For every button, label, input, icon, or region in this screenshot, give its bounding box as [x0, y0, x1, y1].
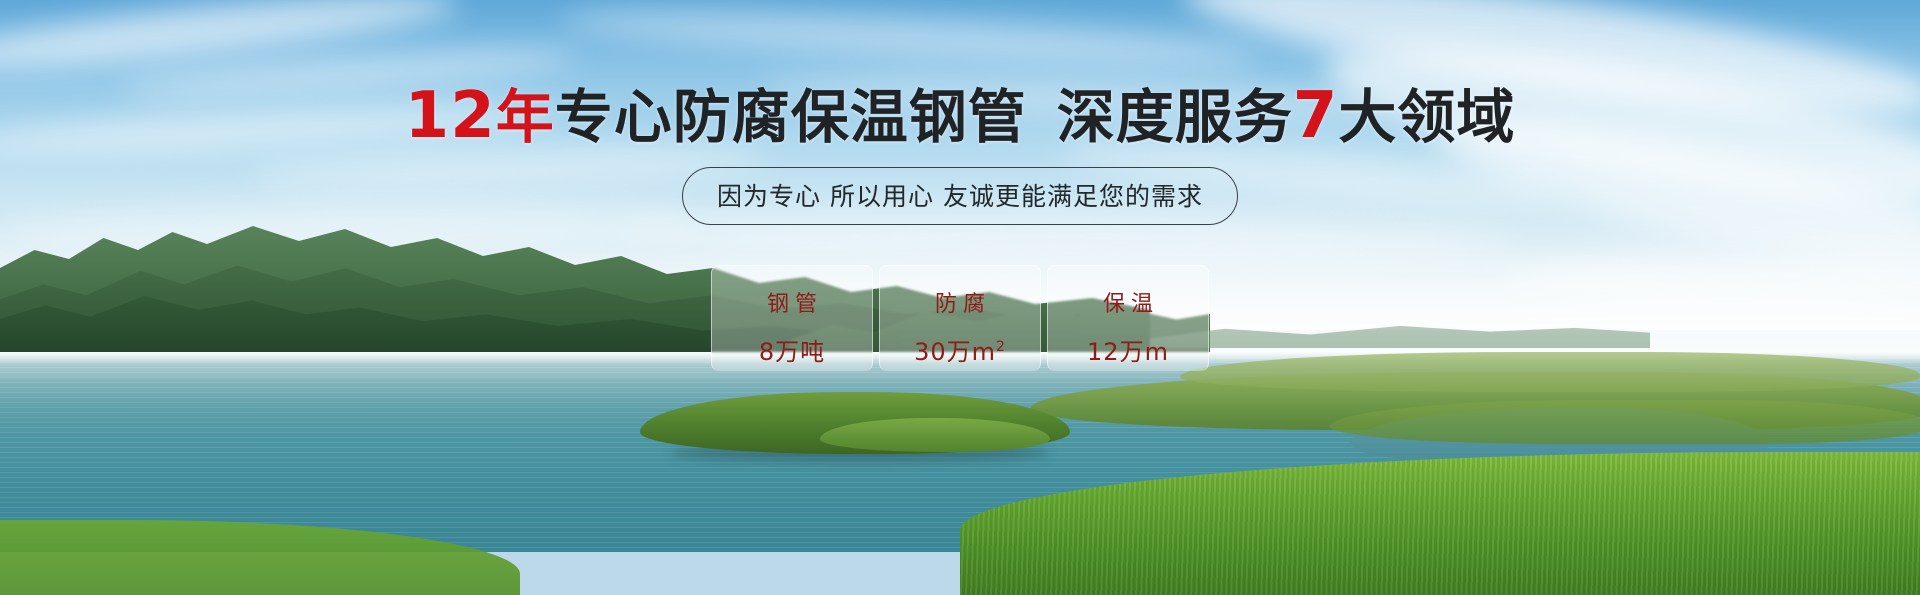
stat-card-value: 30万m2 [914, 332, 1006, 367]
marsh-area-lower [1330, 400, 1920, 444]
stat-card-label: 防腐 [929, 286, 991, 318]
headline-main-text: 专心防腐保温钢管 [555, 83, 1027, 151]
stat-value-main: 8万吨 [759, 338, 825, 366]
subtitle-pill: 因为专心 所以用心 友诚更能满足您的需求 [682, 167, 1238, 225]
stat-card-label: 保温 [1097, 286, 1159, 318]
stat-value-superscript: 2 [996, 339, 1006, 355]
fields-number: 7 [1293, 79, 1339, 153]
grass-island-secondary [820, 418, 1050, 452]
stat-value-main: 30万m [914, 338, 996, 366]
stat-card-label: 钢管 [761, 286, 823, 318]
stat-card-anticorrosion[interactable]: 防腐 30万m2 [879, 265, 1041, 371]
stat-card-value: 12万m [1087, 332, 1169, 367]
stat-card-value: 8万吨 [759, 332, 825, 367]
headline-fields-text: 大领域 [1338, 83, 1515, 151]
headline-service-text: 深度服务 [1057, 83, 1293, 151]
stat-card-insulation[interactable]: 保温 12万m [1047, 265, 1209, 371]
years-unit: 年 [496, 83, 555, 151]
banner-headline: 12年专心防腐保温钢管深度服务7大领域 [0, 84, 1920, 148]
stat-value-main: 12万m [1087, 338, 1169, 366]
years-number: 12 [405, 79, 496, 153]
stat-cards-group: 钢管 8万吨 防腐 30万m2 保温 12万m [0, 265, 1920, 371]
hero-banner: 12年专心防腐保温钢管深度服务7大领域 因为专心 所以用心 友诚更能满足您的需求… [0, 0, 1920, 595]
stat-card-steel-pipe[interactable]: 钢管 8万吨 [711, 265, 873, 371]
subtitle-container: 因为专心 所以用心 友诚更能满足您的需求 [0, 167, 1920, 225]
